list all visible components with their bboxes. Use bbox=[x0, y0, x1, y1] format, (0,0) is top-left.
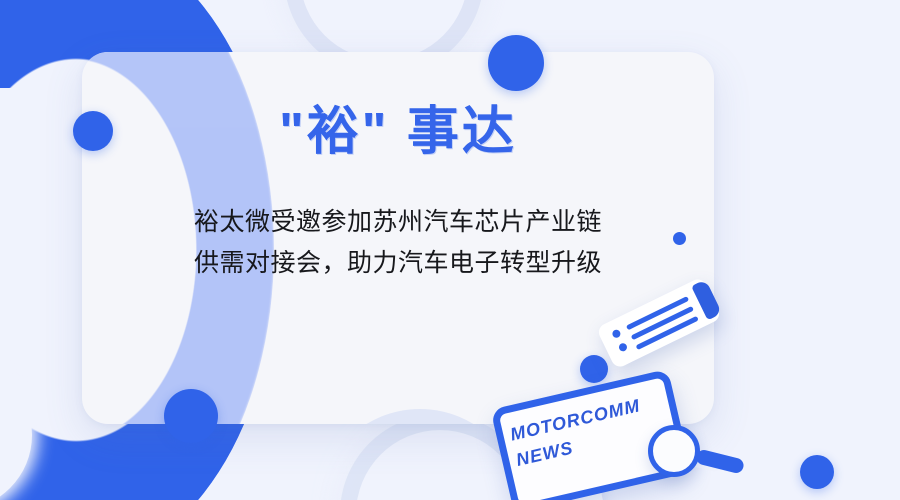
headline-block: "裕" 事达 裕太微受邀参加苏州汽车芯片产业链 供需对接会，助力汽车电子转型升级 bbox=[82, 52, 714, 424]
content-card: "裕" 事达 裕太微受邀参加苏州汽车芯片产业链 供需对接会，助力汽车电子转型升级 bbox=[82, 52, 714, 424]
page-title: "裕" 事达 bbox=[279, 106, 517, 158]
magnifier-handle bbox=[695, 448, 745, 474]
accent-dot-top bbox=[488, 35, 544, 91]
subtitle-line-2: 供需对接会，助力汽车电子转型升级 bbox=[194, 243, 602, 284]
accent-dot-bottom-right bbox=[800, 455, 834, 489]
decorative-ring-top bbox=[300, 0, 468, 60]
accent-dot-bullet bbox=[673, 232, 686, 245]
banner-canvas: "裕" 事达 裕太微受邀参加苏州汽车芯片产业链 供需对接会，助力汽车电子转型升级… bbox=[0, 0, 900, 500]
page-subtitle: 裕太微受邀参加苏州汽车芯片产业链 供需对接会，助力汽车电子转型升级 bbox=[194, 202, 602, 283]
accent-dot-left bbox=[73, 111, 113, 151]
accent-dot-megaphone bbox=[580, 355, 608, 383]
accent-dot-bottom-left bbox=[164, 389, 218, 443]
subtitle-line-1: 裕太微受邀参加苏州汽车芯片产业链 bbox=[194, 202, 602, 243]
magnifier-icon bbox=[648, 425, 700, 477]
